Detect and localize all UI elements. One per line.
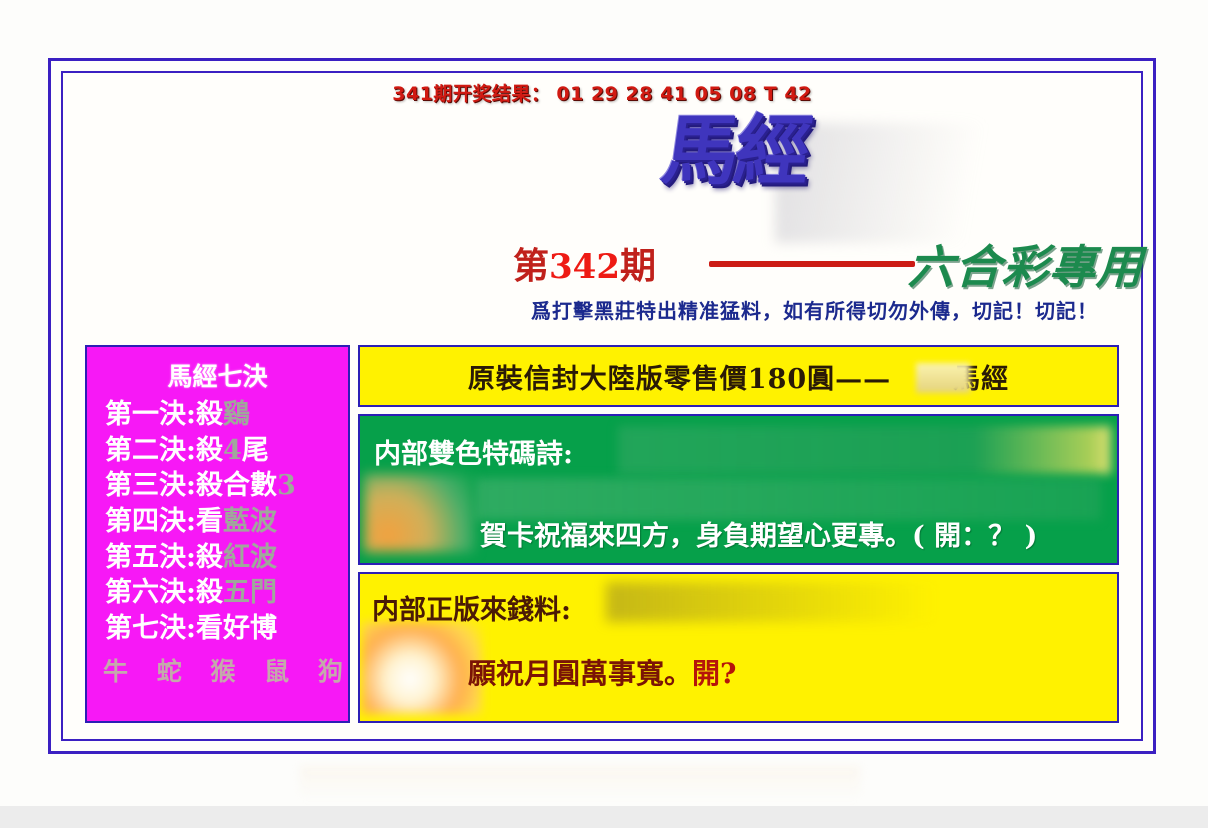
seven-decision-row: 第四決:看藍波 xyxy=(91,504,344,540)
result-numbers: 01 29 28 41 05 08 T 42 xyxy=(556,83,811,105)
brand-logo: 馬經 xyxy=(658,113,813,189)
seven-decision-row: 第七決:看好博 xyxy=(91,611,344,647)
seven-decision-label: 第三決:殺合數 xyxy=(105,470,277,501)
seven-decision-suffix: 尾 xyxy=(242,435,269,466)
price-redaction-blur xyxy=(916,363,970,393)
logo-background-wash xyxy=(775,123,1055,243)
seven-decision-row: 第六決:殺五門 xyxy=(91,575,344,611)
price-banner: 原裝信封大陸版零售價180圓——馬經 xyxy=(358,345,1119,407)
issue-label: 第342期 xyxy=(513,237,656,289)
seven-decisions-title: 馬經七決 xyxy=(91,357,344,393)
seven-decision-highlight: 五門 xyxy=(223,577,277,608)
seven-decision-label: 第六決:殺 xyxy=(105,577,223,608)
footer-ghost-text: ········· xyxy=(380,806,800,819)
seven-decisions-panel: 馬經七決 第一決:殺鷄第二決:殺4尾第三決:殺合數3第四決:看藍波第五決:殺紅波… xyxy=(85,345,350,723)
special-code-poem-label: 内部雙色特碼詩: xyxy=(374,432,573,471)
zodiac-row: 牛 蛇 猴 鼠 狗 xyxy=(91,652,344,688)
green-redaction-top xyxy=(618,426,1111,474)
subbrand-label: 六合彩專用 xyxy=(904,231,1158,297)
issue-suffix: 期 xyxy=(620,245,656,287)
result-label: 341期开奖结果： xyxy=(392,83,550,105)
seven-decision-row: 第一決:殺鷄 xyxy=(91,397,344,433)
yellow-redaction-top xyxy=(606,582,936,622)
page-background: 341期开奖结果：01 29 28 41 05 08 T 42 馬經 第342期… xyxy=(0,0,1208,828)
seven-decision-highlight: 3 xyxy=(277,470,296,501)
poster-outer-frame: 341期开奖结果：01 29 28 41 05 08 T 42 馬經 第342期… xyxy=(48,58,1156,754)
special-code-poem-text: 賀卡祝福來四方，身負期望心更專。( 開：？ ) xyxy=(480,514,1037,553)
seven-decision-highlight: 4 xyxy=(223,435,242,466)
seven-decision-row: 第三決:殺合數3 xyxy=(91,468,344,504)
issue-prefix: 第 xyxy=(513,245,549,287)
green-gradient-blob xyxy=(364,474,474,552)
content-area: 馬經七決 第一決:殺鷄第二決:殺4尾第三決:殺合數3第四決:看藍波第五決:殺紅波… xyxy=(85,345,1119,723)
seven-decision-label: 第一決:殺 xyxy=(105,399,223,430)
seven-decision-highlight: 鷄 xyxy=(223,399,250,430)
seven-decision-row: 第五決:殺紅波 xyxy=(91,540,344,576)
money-tip-label: 内部正版來錢料: xyxy=(372,588,571,627)
seven-decision-highlight: 紅波 xyxy=(223,542,277,573)
money-tip-box: 内部正版來錢料: 願祝月圓萬事寬。開? xyxy=(358,572,1119,723)
masthead: 馬經 第342期 六合彩專用 爲打擊黑莊特出精准猛料，如有所得切勿外傳，切記！切… xyxy=(445,107,1155,345)
money-tip-poem: 願祝月圓萬事寬。 xyxy=(468,657,692,690)
issue-divider-rule xyxy=(709,261,915,267)
seven-decision-label: 第二決:殺 xyxy=(105,435,223,466)
poster-inner-frame: 341期开奖结果：01 29 28 41 05 08 T 42 馬經 第342期… xyxy=(61,71,1143,741)
seven-decision-label: 第七決:看好博 xyxy=(105,613,277,644)
price-main-text: 原裝信封大陸版零售價180圓—— xyxy=(468,364,891,395)
money-tip-open: 開? xyxy=(692,657,736,690)
seven-decision-highlight: 藍波 xyxy=(223,506,277,537)
seven-decisions-list: 第一決:殺鷄第二決:殺4尾第三決:殺合數3第四決:看藍波第五決:殺紅波第六決:殺… xyxy=(91,397,344,646)
masthead-tagline: 爲打擊黑莊特出精准猛料，如有所得切勿外傳，切記！切記！ xyxy=(531,295,1191,324)
issue-number: 342 xyxy=(549,247,620,287)
right-column: 原裝信封大陸版零售價180圓——馬經 内部雙色特碼詩: 賀卡祝福來四方，身負期望… xyxy=(358,345,1119,723)
issue-row: 第342期 六合彩專用 xyxy=(513,233,1208,291)
seven-decision-label: 第四決:看 xyxy=(105,506,223,537)
special-code-poem-box: 内部雙色特碼詩: 賀卡祝福來四方，身負期望心更專。( 開：？ ) xyxy=(358,414,1119,565)
money-tip-text: 願祝月圓萬事寬。開? xyxy=(468,652,736,692)
footer-ghost-band xyxy=(300,766,860,800)
seven-decision-label: 第五決:殺 xyxy=(105,542,223,573)
seven-decision-row: 第二決:殺4尾 xyxy=(91,433,344,469)
lottery-result-banner: 341期开奖结果：01 29 28 41 05 08 T 42 xyxy=(63,79,1141,106)
yellow-gradient-blob xyxy=(362,622,482,714)
